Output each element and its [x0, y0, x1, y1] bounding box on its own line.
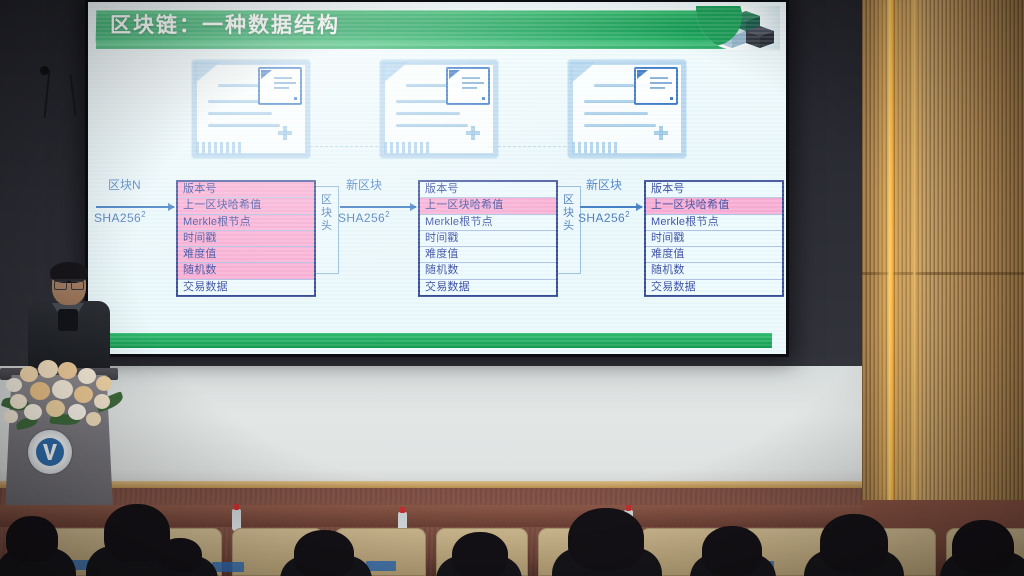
document-inset-icon — [446, 67, 490, 105]
document-plus-icon — [466, 126, 480, 140]
document-link-1 — [310, 146, 388, 148]
audience-head — [820, 514, 888, 572]
warm-light-strip — [886, 0, 895, 500]
desk-monitor — [212, 562, 244, 572]
slide-title: 区块链：一种数据结构 — [110, 12, 710, 40]
document-ruffle — [196, 142, 242, 154]
document-line — [208, 124, 280, 127]
block-row: 随机数 — [178, 263, 314, 279]
connector-label-3-top: 新区块 — [586, 176, 622, 193]
block-row: 上一区块哈希值 — [420, 198, 556, 214]
document-inset-icon — [258, 67, 302, 105]
warm-light-strip-secondary — [912, 0, 917, 500]
document-line — [208, 112, 272, 115]
block-row: 版本号 — [178, 182, 314, 198]
presenter-shirt — [58, 309, 78, 331]
block-row: 难度值 — [178, 247, 314, 263]
block-row: 交易数据 — [646, 280, 782, 295]
block-row: 交易数据 — [178, 280, 314, 295]
block-1: 版本号 上一区块哈希值 Merkle根节点 时间戳 难度值 随机数 交易数据 — [176, 180, 316, 297]
audience-head — [702, 526, 762, 576]
blockchain-cubes-logo — [696, 6, 780, 50]
document-line — [396, 124, 468, 127]
block-row: 难度值 — [646, 247, 782, 263]
connector-label-1-bottom: SHA2562 — [94, 210, 146, 225]
document-line — [584, 112, 648, 115]
connector-arrow-2 — [340, 206, 416, 208]
block-row: 随机数 — [420, 263, 556, 279]
block-row: 版本号 — [646, 182, 782, 198]
block-row: 版本号 — [420, 182, 556, 198]
block-row: 交易数据 — [420, 280, 556, 295]
block-row: Merkle根节点 — [178, 215, 314, 231]
connector-label-1-top: 区块N — [108, 176, 141, 193]
block-row: 时间戳 — [178, 231, 314, 247]
block-row: 随机数 — [646, 263, 782, 279]
block-row: 上一区块哈希值 — [646, 198, 782, 214]
connector-label-2-bottom: SHA2562 — [338, 210, 390, 225]
document-line — [584, 124, 656, 127]
audience-head — [158, 538, 202, 572]
photo-scene: 区块链：一种数据结构 — [0, 0, 1024, 576]
block-row: 时间戳 — [646, 231, 782, 247]
presenter-glasses — [54, 279, 84, 289]
document-2 — [380, 60, 498, 158]
connector-arrow-1 — [96, 206, 174, 208]
block-header-label-2: 区块头 — [562, 194, 575, 233]
slide-title-bar-accent — [96, 42, 736, 49]
document-ruffle — [572, 142, 618, 154]
audience-head — [294, 530, 354, 576]
blockchain-diagram: 区块N SHA2562 版本号 上一区块哈希值 Merkle根节点 时间戳 难度… — [88, 170, 786, 316]
university-emblem — [28, 430, 72, 474]
connector-label-2-top: 新区块 — [346, 176, 382, 193]
document-plus-icon — [278, 126, 292, 140]
document-line — [396, 112, 460, 115]
projection-screen: 区块链：一种数据结构 — [88, 2, 786, 354]
audience-head — [568, 508, 644, 570]
block-2: 版本号 上一区块哈希值 Merkle根节点 时间戳 难度值 随机数 交易数据 — [418, 180, 558, 297]
connector-arrow-3 — [580, 206, 642, 208]
document-ruffle — [384, 142, 430, 154]
document-icons-row — [88, 54, 786, 166]
microphone-head-left — [40, 66, 49, 75]
document-3 — [568, 60, 686, 158]
slide-bottom-bar — [96, 333, 772, 348]
audience-head — [452, 532, 508, 576]
block-row: 时间戳 — [420, 231, 556, 247]
flower-arrangement — [0, 352, 130, 434]
audience-head — [6, 516, 58, 562]
document-inset-icon — [634, 67, 678, 105]
document-link-2 — [488, 146, 566, 148]
presentation-slide: 区块链：一种数据结构 — [88, 2, 786, 354]
cubes-icon — [696, 6, 780, 50]
connector-label-3-bottom: SHA2562 — [578, 210, 630, 225]
desk-monitor — [366, 561, 396, 571]
block-row: 上一区块哈希值 — [178, 198, 314, 214]
audience-head — [952, 520, 1014, 574]
block-row: 难度值 — [420, 247, 556, 263]
block-row: Merkle根节点 — [420, 215, 556, 231]
block-row: Merkle根节点 — [646, 215, 782, 231]
document-1 — [192, 60, 310, 158]
block-3: 版本号 上一区块哈希值 Merkle根节点 时间戳 难度值 随机数 交易数据 — [644, 180, 784, 297]
block-header-label-1: 区块头 — [320, 194, 333, 233]
document-plus-icon — [654, 126, 668, 140]
